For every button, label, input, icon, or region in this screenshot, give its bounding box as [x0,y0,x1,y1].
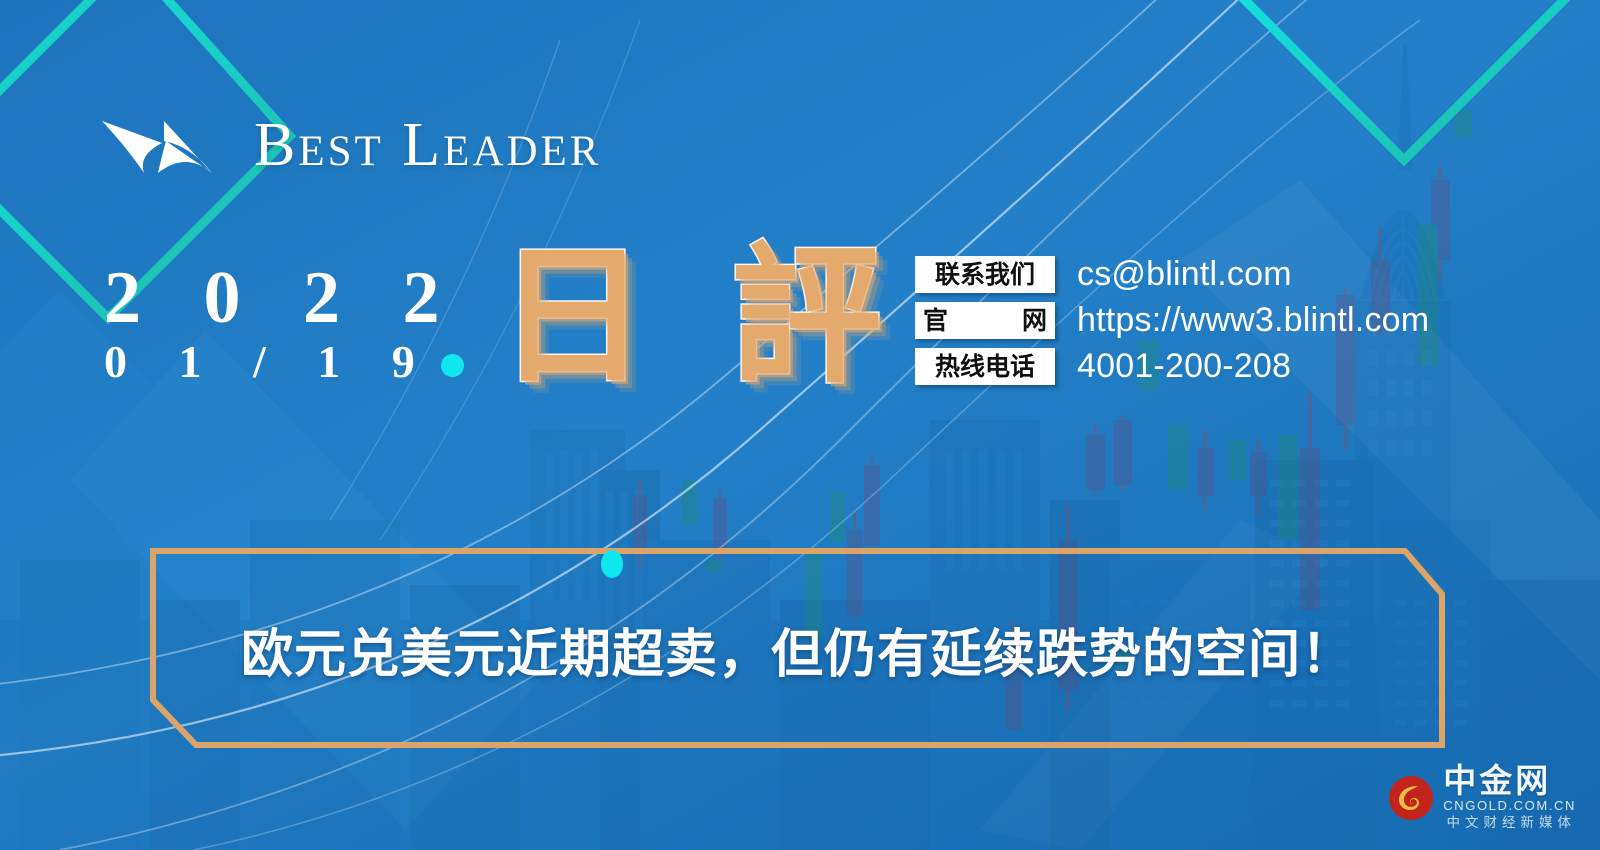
watermark-url: CNGOLD.COM.CN [1443,798,1576,814]
cngold-watermark: 中金网 CNGOLD.COM.CN 中文财经新媒体 [1388,764,1576,832]
cyan-dot-icon [441,354,464,377]
watermark-name: 中金网 [1443,764,1576,798]
contact-label-email: 联系我们 [915,256,1055,293]
contact-label-website: 官网 [915,302,1055,339]
headline-frame: 欧元兑美元近期超卖，但仍有延续跌势的空间！ [150,548,1445,748]
date-month-day: 0 1 / 1 9 [104,336,435,388]
promo-banner: Best Leader 2 0 2 2 0 1 / 1 9 日 評 联系我们 c… [0,0,1600,850]
contact-value-hotline[interactable]: 4001-200-208 [1077,348,1291,385]
date-year: 2 0 2 2 [104,258,464,338]
headline-text: 欧元兑美元近期超卖，但仍有延续跌势的空间！ [150,612,1445,687]
watermark-tagline: 中文财经新媒体 [1443,815,1576,832]
brand-name: Best Leader [254,110,602,181]
contact-row-email: 联系我们 cs@blintl.com [915,256,1429,293]
contact-value-website[interactable]: https://www3.blintl.com [1077,302,1429,339]
contact-row-website: 官网 https://www3.blintl.com [915,302,1429,339]
date-block: 2 0 2 2 0 1 / 1 9 [104,258,464,388]
cyan-accent-dot-icon [592,548,632,588]
contact-value-email[interactable]: cs@blintl.com [1077,256,1292,293]
cngold-flame-icon [1388,775,1434,821]
contact-label-hotline: 热线电话 [915,348,1055,385]
contact-row-hotline: 热线电话 4001-200-208 [915,348,1429,385]
page-title: 日 評 [497,236,897,396]
wing-logo-icon [100,115,228,177]
contact-info-block: 联系我们 cs@blintl.com 官网 https://www3.blint… [915,256,1429,385]
brand-header: Best Leader [100,110,602,181]
